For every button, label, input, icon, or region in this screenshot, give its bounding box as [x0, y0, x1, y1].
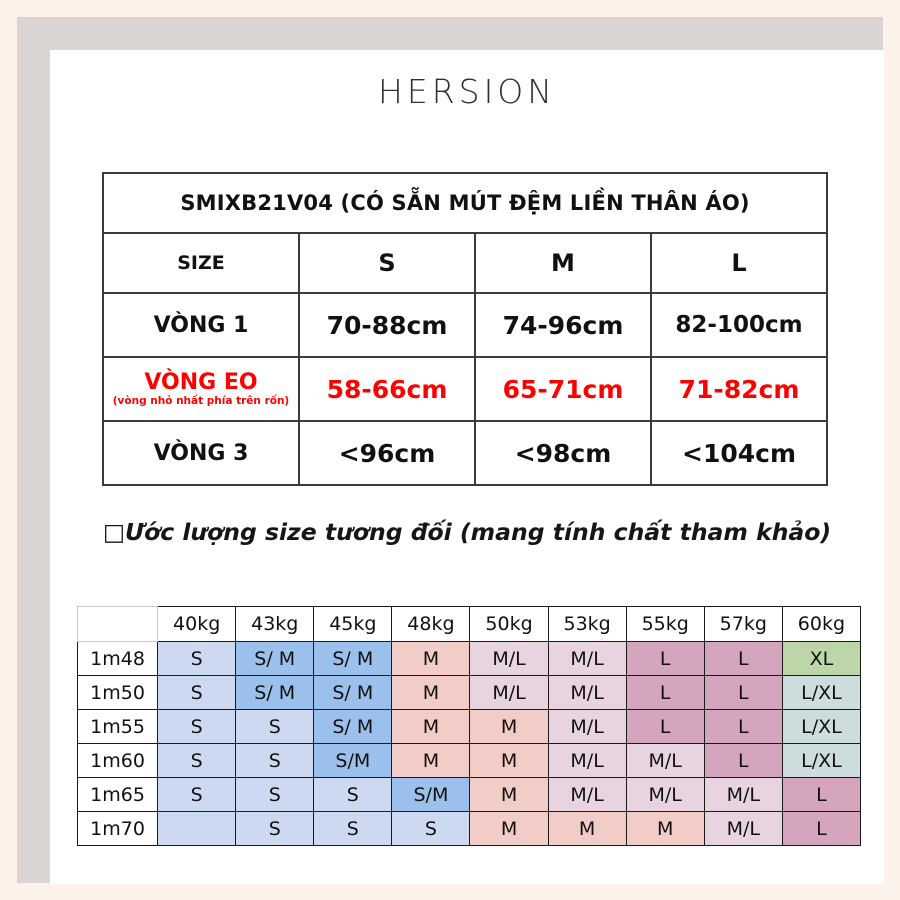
fit-size-cell: S/ M: [314, 642, 392, 676]
fit-size-cell: L: [782, 778, 860, 812]
fit-size-cell: M: [470, 778, 548, 812]
size-column-header-s: S: [299, 233, 475, 293]
fit-size-cell: M: [470, 812, 548, 846]
fit-size-cell: L/XL: [782, 744, 860, 778]
fit-size-cell: S/ M: [236, 676, 314, 710]
fit-size-cell: L: [704, 744, 782, 778]
measurement-label: VÒNG 3: [103, 421, 299, 485]
fit-table-corner-cell: [78, 607, 158, 642]
height-row-label: 1m60: [78, 744, 158, 778]
fit-size-cell: S: [158, 710, 236, 744]
product-code-title: SMIXB21V04 (CÓ SẴN MÚT ĐỆM LIỀN THÂN ÁO): [103, 173, 827, 233]
height-row-label: 1m70: [78, 812, 158, 846]
fit-size-cell: M: [392, 642, 470, 676]
fit-size-cell: M/L: [470, 642, 548, 676]
height-row-label: 1m55: [78, 710, 158, 744]
measurement-value: 65-71cm: [475, 357, 651, 421]
fit-size-cell: XL: [782, 642, 860, 676]
measurement-value: <98cm: [475, 421, 651, 485]
fit-size-cell: L/XL: [782, 676, 860, 710]
measurement-size-table: SMIXB21V04 (CÓ SẴN MÚT ĐỆM LIỀN THÂN ÁO)…: [102, 172, 828, 486]
fit-table-row: 1m60SSS/MMMM/LM/LLL/XL: [78, 744, 861, 778]
fit-size-cell: M: [470, 710, 548, 744]
fit-size-cell: S: [158, 778, 236, 812]
weight-column-header: 50kg: [470, 607, 548, 642]
measurement-row: VÒNG 170-88cm74-96cm82-100cm: [103, 293, 827, 357]
weight-column-header: 53kg: [548, 607, 626, 642]
weight-column-header: 43kg: [236, 607, 314, 642]
height-weight-fit-table: 40kg43kg45kg48kg50kg53kg55kg57kg60kg1m48…: [77, 606, 861, 846]
fit-size-cell: L: [704, 642, 782, 676]
fit-size-cell: M/L: [548, 676, 626, 710]
measurement-label: VÒNG EO(vòng nhỏ nhất phía trên rốn): [103, 357, 299, 421]
measurement-label-note: (vòng nhỏ nhất phía trên rốn): [104, 396, 298, 407]
weight-header-row: 40kg43kg45kg48kg50kg53kg55kg57kg60kg: [78, 607, 861, 642]
fit-size-cell: S: [236, 744, 314, 778]
weight-column-header: 48kg: [392, 607, 470, 642]
measurement-value: <96cm: [299, 421, 475, 485]
page-background: HERSION SMIXB21V04 (CÓ SẴN MÚT ĐỆM LIỀN …: [0, 0, 900, 900]
fit-size-cell: S/M: [392, 778, 470, 812]
fit-size-cell: L: [626, 710, 704, 744]
fit-table-body: 40kg43kg45kg48kg50kg53kg55kg57kg60kg1m48…: [78, 607, 861, 846]
fit-size-cell: S: [236, 710, 314, 744]
fit-size-cell: S: [158, 676, 236, 710]
fit-size-cell: L/XL: [782, 710, 860, 744]
fit-size-cell: M/L: [626, 778, 704, 812]
fit-table-row: 1m48SS/ MS/ MMM/LM/LLLXL: [78, 642, 861, 676]
weight-column-header: 40kg: [158, 607, 236, 642]
measurement-value: 58-66cm: [299, 357, 475, 421]
fit-size-cell: M/L: [548, 744, 626, 778]
fit-size-cell: S/ M: [314, 676, 392, 710]
fit-size-cell: M/L: [626, 744, 704, 778]
content-canvas: HERSION SMIXB21V04 (CÓ SẴN MÚT ĐỆM LIỀN …: [50, 50, 884, 884]
measurement-value: 70-88cm: [299, 293, 475, 357]
fit-size-cell: S: [236, 812, 314, 846]
measurement-value: 82-100cm: [651, 293, 827, 357]
fit-size-cell: M: [626, 812, 704, 846]
weight-column-header: 45kg: [314, 607, 392, 642]
fit-size-cell: S: [158, 744, 236, 778]
fit-size-cell: M/L: [470, 676, 548, 710]
measurement-value: 74-96cm: [475, 293, 651, 357]
measurement-table-body: SMIXB21V04 (CÓ SẴN MÚT ĐỆM LIỀN THÂN ÁO)…: [103, 173, 827, 485]
fit-size-cell: M/L: [704, 812, 782, 846]
fit-size-cell: M/L: [548, 642, 626, 676]
fit-size-cell: S: [314, 812, 392, 846]
fit-table-row: 1m65SSSS/MMM/LM/LM/LL: [78, 778, 861, 812]
fit-size-cell: M: [548, 812, 626, 846]
height-row-label: 1m65: [78, 778, 158, 812]
fit-size-cell: L: [704, 710, 782, 744]
measurement-row: VÒNG 3<96cm<98cm<104cm: [103, 421, 827, 485]
fit-size-cell: S: [158, 642, 236, 676]
fit-size-cell: [158, 812, 236, 846]
measurement-value: 71-82cm: [651, 357, 827, 421]
measurement-label-main: VÒNG EO: [104, 371, 298, 394]
fit-size-cell: S/ M: [236, 642, 314, 676]
fit-size-cell: S: [236, 778, 314, 812]
fit-table-row: 1m55SSS/ MMMM/LLLL/XL: [78, 710, 861, 744]
fit-size-cell: L: [704, 676, 782, 710]
measurement-label: VÒNG 1: [103, 293, 299, 357]
fit-size-cell: M: [392, 710, 470, 744]
weight-column-header: 60kg: [782, 607, 860, 642]
fit-size-cell: S: [314, 778, 392, 812]
fit-size-cell: S/M: [314, 744, 392, 778]
weight-column-header: 57kg: [704, 607, 782, 642]
fit-size-cell: M: [470, 744, 548, 778]
mat-frame: HERSION SMIXB21V04 (CÓ SẴN MÚT ĐỆM LIỀN …: [17, 17, 883, 883]
height-row-label: 1m50: [78, 676, 158, 710]
fit-size-cell: M/L: [548, 778, 626, 812]
fit-size-cell: S/ M: [314, 710, 392, 744]
fit-size-cell: S: [392, 812, 470, 846]
height-row-label: 1m48: [78, 642, 158, 676]
table-title-row: SMIXB21V04 (CÓ SẴN MÚT ĐỆM LIỀN THÂN ÁO): [103, 173, 827, 233]
measurement-row: VÒNG EO(vòng nhỏ nhất phía trên rốn)58-6…: [103, 357, 827, 421]
size-column-header-l: L: [651, 233, 827, 293]
brand-logo: HERSION: [50, 72, 884, 111]
size-column-header-m: M: [475, 233, 651, 293]
size-estimate-caption: □Ước lượng size tương đối (mang tính chấ…: [50, 518, 884, 546]
fit-size-cell: L: [626, 642, 704, 676]
fit-size-cell: M/L: [704, 778, 782, 812]
fit-size-cell: M: [392, 676, 470, 710]
size-header-label: SIZE: [103, 233, 299, 293]
fit-size-cell: L: [626, 676, 704, 710]
fit-size-cell: L: [782, 812, 860, 846]
fit-size-cell: M: [392, 744, 470, 778]
weight-column-header: 55kg: [626, 607, 704, 642]
measurement-value: <104cm: [651, 421, 827, 485]
fit-table-row: 1m50SS/ MS/ MMM/LM/LLLL/XL: [78, 676, 861, 710]
fit-size-cell: M/L: [548, 710, 626, 744]
size-header-row: SIZESML: [103, 233, 827, 293]
fit-table-row: 1m70SSSMMMM/LL: [78, 812, 861, 846]
